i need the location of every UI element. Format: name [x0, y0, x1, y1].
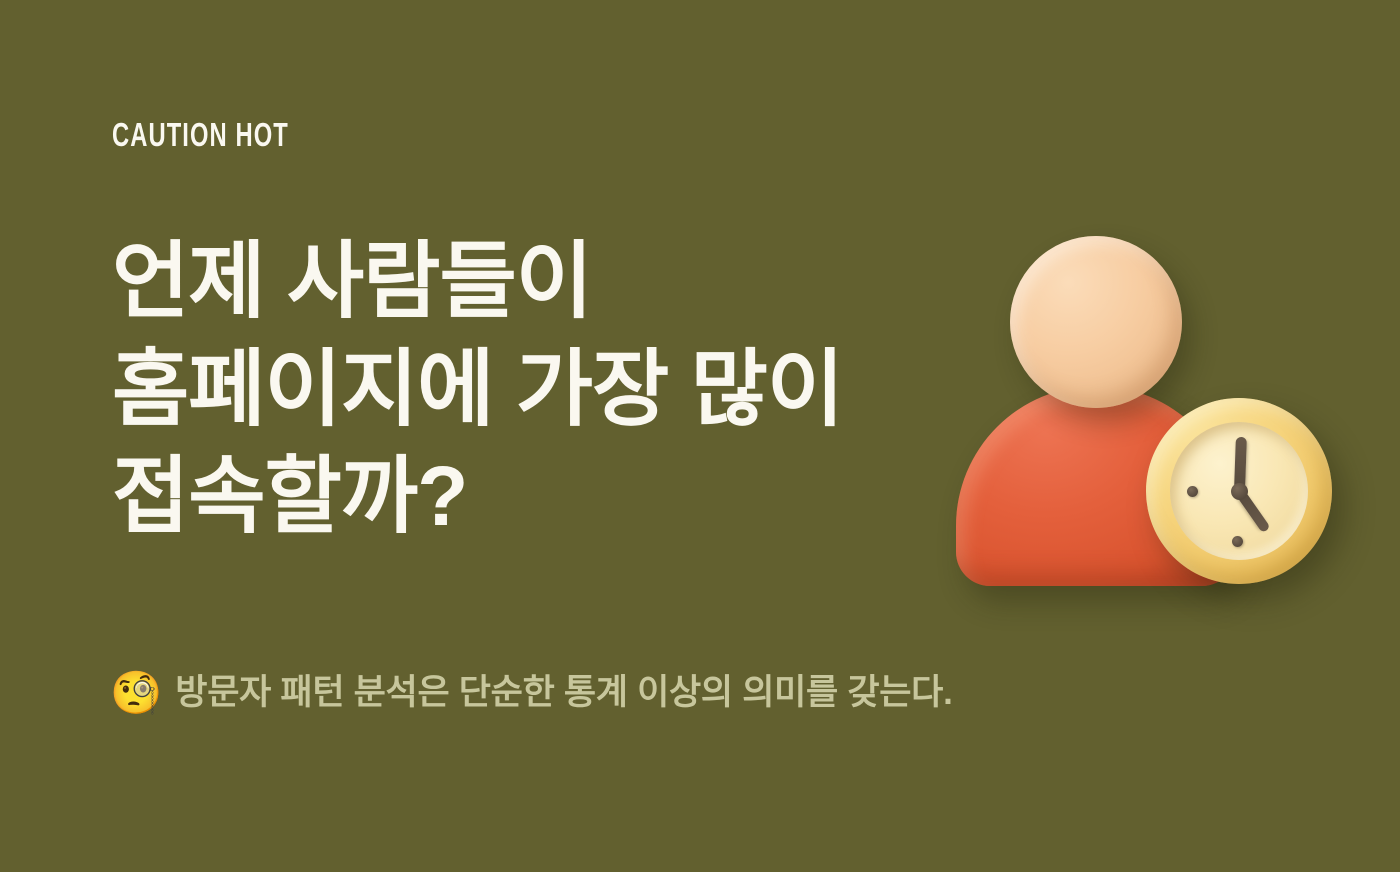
subtitle-row: 🧐 방문자 패턴 분석은 단순한 통계 이상의 의미를 갖는다.: [110, 672, 953, 714]
clock-center-pin: [1231, 483, 1248, 500]
clock-icon: [1146, 398, 1332, 584]
face-with-monocle-icon: 🧐: [110, 672, 162, 714]
kicker-label: CAUTION HOT: [112, 118, 289, 151]
promo-card: CAUTION HOT 언제 사람들이 홈페이지에 가장 많이 접속할까? 🧐 …: [0, 0, 1400, 872]
headline-line-3: 접속할까?: [112, 443, 942, 551]
subtitle-text: 방문자 패턴 분석은 단순한 통계 이상의 의미를 갖는다.: [175, 672, 952, 714]
person-with-clock-illustration: [928, 222, 1348, 602]
clock-face: [1170, 422, 1308, 560]
clock-dot-five: [1232, 536, 1243, 547]
clock-dot-nine: [1187, 486, 1198, 497]
person-head-shape: [1010, 236, 1182, 408]
headline-line-1: 언제 사람들이: [112, 228, 942, 336]
headline: 언제 사람들이 홈페이지에 가장 많이 접속할까?: [112, 228, 942, 551]
headline-line-2: 홈페이지에 가장 많이: [112, 336, 942, 444]
